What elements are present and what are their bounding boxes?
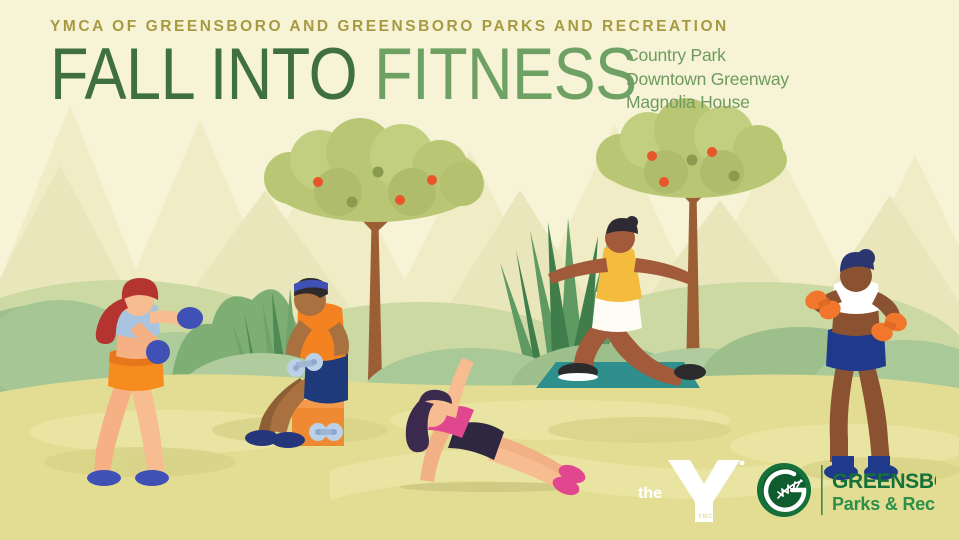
location-item-1: Country Park	[626, 44, 789, 68]
location-list: Country Park Downtown Greenway Magnolia …	[626, 44, 789, 115]
shoe-front	[271, 432, 305, 448]
logo-lockup: the YMCA	[636, 452, 936, 528]
location-item-3: Magnolia House	[626, 91, 789, 115]
ymca-logo: the YMCA	[638, 460, 744, 522]
boxing-glove-left	[146, 340, 170, 364]
ymca-registered-mark	[740, 461, 745, 466]
parks-wordmark-line2: Parks & Recreation	[832, 494, 936, 514]
parks-wordmark-line1: GREENSBORO	[832, 470, 936, 493]
title-part-2: FITNESS	[374, 33, 637, 115]
boxing-glove-right	[177, 307, 203, 329]
page-title: FALL INTO FITNESS	[50, 38, 637, 112]
location-item-2: Downtown Greenway	[626, 68, 789, 92]
logo-divider	[821, 465, 823, 515]
title-part-1: FALL INTO	[50, 33, 374, 115]
shoe-left	[87, 470, 121, 486]
ymca-small-label: YMCA	[698, 514, 718, 520]
ymca-the-label: the	[638, 485, 662, 502]
parks-emblem-icon	[757, 463, 811, 517]
hair-bun	[857, 249, 875, 267]
shoe-right	[135, 470, 169, 486]
shoe-back	[674, 364, 706, 380]
ymca-y-mark	[668, 460, 740, 522]
poster: YMCA OF GREENSBORO AND GREENSBORO PARKS …	[0, 0, 959, 540]
